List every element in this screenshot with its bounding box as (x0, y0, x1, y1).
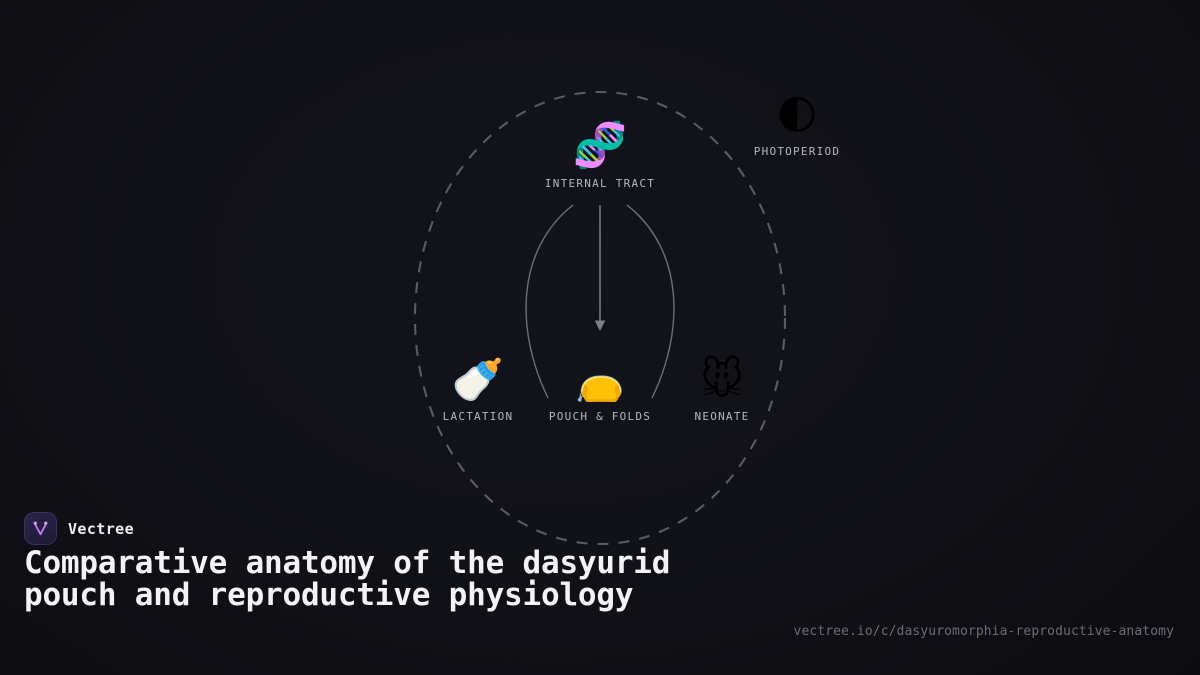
node-label-internal-tract: INTERNAL TRACT (545, 177, 655, 190)
clutch-bag-icon: 👝 (575, 361, 625, 401)
node-label-photoperiod: PHOTOPERIOD (754, 145, 841, 158)
page-url: vectree.io/c/dasyuromorphia-reproductive… (794, 624, 1174, 639)
node-photoperiod[interactable]: 🌓 PHOTOPERIOD (754, 96, 841, 158)
node-lactation[interactable]: 🍼 LACTATION (443, 359, 514, 423)
node-neonate[interactable]: 🐭 NEONATE (694, 359, 749, 423)
baby-bottle-icon: 🍼 (452, 359, 504, 401)
node-pouch-and-folds[interactable]: 👝 POUCH & FOLDS (549, 361, 651, 423)
vectree-glyph-icon (30, 518, 51, 539)
node-internal-tract[interactable]: 🧬 INTERNAL TRACT (545, 124, 655, 190)
mouse-face-icon: 🐭 (700, 359, 744, 401)
first-quarter-moon-icon: 🌓 (776, 96, 818, 136)
page-title: Comparative anatomy of the dasyurid pouc… (24, 548, 764, 611)
dna-icon: 🧬 (573, 124, 628, 168)
node-label-neonate: NEONATE (694, 410, 749, 423)
brand-row[interactable]: Vectree (24, 512, 134, 545)
screenshot-canvas: 🧬 INTERNAL TRACT 🌓 PHOTOPERIOD 🍼 LACTATI… (0, 0, 1200, 675)
vectree-logo-icon (24, 512, 57, 545)
node-label-pouch-and-folds: POUCH & FOLDS (549, 410, 651, 423)
node-label-lactation: LACTATION (443, 410, 514, 423)
brand-name: Vectree (68, 520, 134, 538)
